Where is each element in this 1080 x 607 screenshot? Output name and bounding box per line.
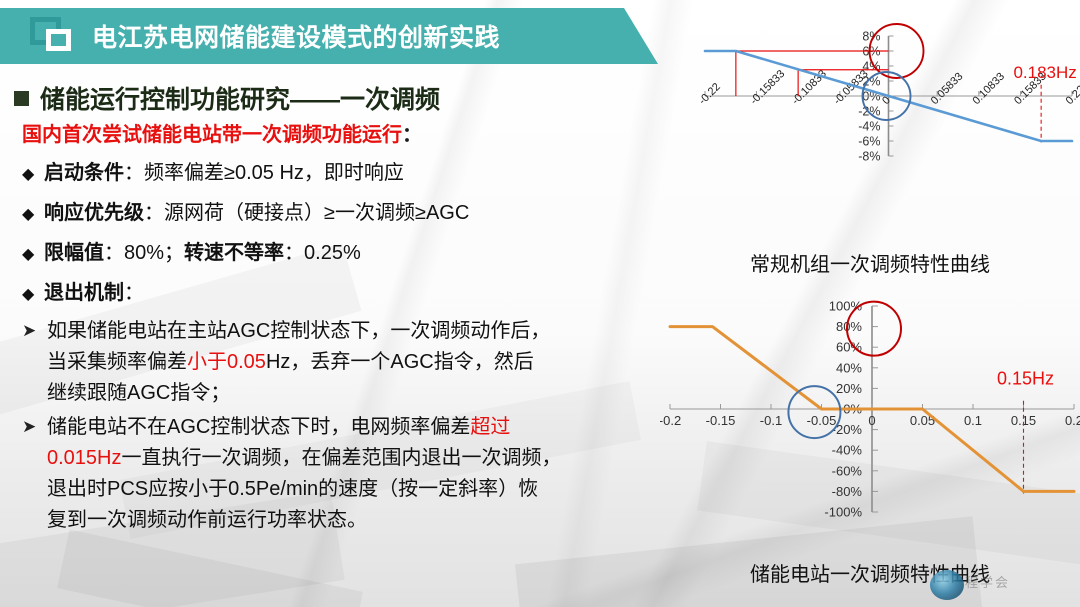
highlighted-text: 0.015Hz xyxy=(47,447,122,469)
x-axis-tick-label: 0.1 xyxy=(964,413,982,428)
arrow-bullet-icon: ➤ xyxy=(22,316,47,409)
plain-text: 复到一次调频动作前运行功率状态。 xyxy=(47,509,367,531)
slide-root: 电江苏电网储能建设模式的创新实践 储能运行控制功能研究——一次调频 国内首次尝试… xyxy=(0,0,1080,607)
y-axis-tick-label: 100% xyxy=(829,299,863,314)
diamond-bullet-icon: ◆ xyxy=(22,244,44,264)
y-axis-tick-label: -4% xyxy=(858,120,880,134)
y-axis-tick-label: 60% xyxy=(836,340,862,355)
chart-top-caption: 常规机组一次调频特性曲线 xyxy=(660,248,1080,277)
paragraph-line: 退出时PCS应按小于0.5Pe/min的速度（按一定斜率）恢 xyxy=(47,474,672,505)
section-title: 储能运行控制功能研究——一次调频 xyxy=(40,80,440,116)
lead-red-text: 国内首次尝试储能电站带一次调频功能运行 xyxy=(22,124,402,146)
diamond-bullet-icon: ◆ xyxy=(22,164,44,184)
chart-bottom-caption: 储能电站一次调频特性曲线 xyxy=(660,558,1080,587)
x-axis-tick-label: 0.2 xyxy=(1065,413,1080,428)
bullet-list: ◆启动条件：频率偏差≥0.05 Hz，即时响应◆响应优先级：源网荷（硬接点）≥一… xyxy=(22,156,672,305)
diamond-bullet-icon: ◆ xyxy=(22,204,44,224)
arrow-bullet-icon: ➤ xyxy=(22,412,47,536)
bullet-text: 退出机制： xyxy=(44,276,144,305)
paragraph-line: 当采集频率偏差小于0.05Hz，丢弃一个AGC指令，然后 xyxy=(47,347,672,378)
paragraph-line: 复到一次调频动作前运行功率状态。 xyxy=(47,505,672,536)
bullet-row: ◆限幅值：80%；转速不等率：0.25% xyxy=(22,236,672,265)
y-axis-tick-label: -60% xyxy=(832,463,863,478)
diamond-bullet-icon: ◆ xyxy=(22,284,44,304)
x-axis-tick-label: -0.15833 xyxy=(748,68,787,107)
paragraph-line: 0.015Hz一直执行一次调频，在偏差范围内退出一次调频， xyxy=(47,443,672,474)
lead-statement: 国内首次尝试储能电站带一次调频功能运行： xyxy=(22,118,672,147)
chart-storage-station: 100%80%60%40%20%0%-20%-40%-60%-80%-100%-… xyxy=(660,290,1080,560)
paragraph-line: 储能电站不在AGC控制状态下时，电网频率偏差超过 xyxy=(47,412,672,443)
plain-text: 如果储能电站在主站AGC控制状态下，一次调频动作后， xyxy=(47,320,550,342)
highlighted-text: 超过 xyxy=(470,416,510,438)
plain-text: 当采集频率偏差 xyxy=(47,351,187,373)
x-axis-tick-label: -0.2 xyxy=(660,413,681,428)
bullet-text: 响应优先级：源网荷（硬接点）≥一次调频≥AGC xyxy=(44,196,469,225)
paragraph-line: 如果储能电站在主站AGC控制状态下，一次调频动作后， xyxy=(47,316,672,347)
chart-conventional-unit: 8%6%4%2%0%-2%-4%-6%-8%-0.22-0.15833-0.10… xyxy=(660,8,1080,240)
nested-squares-logo-icon xyxy=(30,17,82,55)
x-axis-tick-label: 0.22 xyxy=(1064,83,1080,107)
chart-bottom-note: 0.15Hz xyxy=(997,368,1054,388)
paragraph-text: 如果储能电站在主站AGC控制状态下，一次调频动作后，当采集频率偏差小于0.05H… xyxy=(47,316,672,409)
x-axis-tick-label: 0.10833 xyxy=(970,71,1007,108)
y-axis-tick-label: -6% xyxy=(858,135,880,149)
y-axis-tick-label: -8% xyxy=(858,150,880,164)
x-axis-tick-label: 0.05833 xyxy=(929,71,966,108)
paragraph-list: ➤如果储能电站在主站AGC控制状态下，一次调频动作后，当采集频率偏差小于0.05… xyxy=(22,316,672,536)
y-axis-tick-label: 80% xyxy=(836,319,862,334)
plain-text: 退出时PCS应按小于0.5Pe/min的速度（按一定斜率）恢 xyxy=(47,478,538,500)
plain-text: Hz，丢弃一个AGC指令，然后 xyxy=(266,351,534,373)
paragraph-text: 储能电站不在AGC控制状态下时，电网频率偏差超过0.015Hz一直执行一次调频，… xyxy=(47,412,672,536)
plain-text: 一直执行一次调频，在偏差范围内退出一次调频， xyxy=(122,447,562,469)
bullet-text: 限幅值：80%；转速不等率：0.25% xyxy=(44,236,361,265)
paragraph-row: ➤如果储能电站在主站AGC控制状态下，一次调频动作后，当采集频率偏差小于0.05… xyxy=(22,316,672,409)
y-axis-tick-label: -80% xyxy=(832,484,863,499)
x-axis-tick-label: -0.05 xyxy=(807,413,837,428)
background-facet xyxy=(57,529,363,607)
bullet-row: ◆退出机制： xyxy=(22,276,672,305)
section-heading: 储能运行控制功能研究——一次调频 xyxy=(14,80,440,116)
logo-inner-square xyxy=(46,29,71,51)
bullet-row: ◆启动条件：频率偏差≥0.05 Hz，即时响应 xyxy=(22,156,672,185)
x-axis-tick-label: 0 xyxy=(868,413,875,428)
chart-storage-station-svg: 100%80%60%40%20%0%-20%-40%-60%-80%-100%-… xyxy=(660,290,1080,560)
paragraph-line: 继续跟随AGC指令； xyxy=(47,378,672,409)
y-axis-tick-label: 40% xyxy=(836,360,862,375)
y-axis-tick-label: -40% xyxy=(832,443,863,458)
x-axis-tick-label: -0.22 xyxy=(697,81,723,107)
watermark-label: 程学会 xyxy=(965,572,1010,591)
lead-tail-text: ： xyxy=(402,124,422,146)
header-banner: 电江苏电网储能建设模式的创新实践 xyxy=(0,8,658,64)
banner-title: 电江苏电网储能建设模式的创新实践 xyxy=(92,18,500,54)
x-axis-tick-label: -0.1 xyxy=(760,413,782,428)
highlighted-text: 小于0.05 xyxy=(187,351,266,373)
bullet-text: 启动条件：频率偏差≥0.05 Hz，即时响应 xyxy=(44,156,404,185)
plain-text: 继续跟随AGC指令； xyxy=(47,382,230,404)
y-axis-tick-label: 20% xyxy=(836,381,862,396)
watermark-logo-icon xyxy=(930,570,964,600)
plain-text: 储能电站不在AGC控制状态下时，电网频率偏差 xyxy=(47,416,470,438)
square-bullet-icon xyxy=(14,91,29,106)
paragraph-row: ➤储能电站不在AGC控制状态下时，电网频率偏差超过0.015Hz一直执行一次调频… xyxy=(22,412,672,536)
chart-conventional-unit-svg: 8%6%4%2%0%-2%-4%-6%-8%-0.22-0.15833-0.10… xyxy=(660,8,1080,240)
chart-top-note: 0.183Hz xyxy=(1013,63,1076,82)
x-axis-tick-label: -0.15 xyxy=(706,413,736,428)
y-axis-tick-label: -100% xyxy=(824,505,862,520)
bullet-row: ◆响应优先级：源网荷（硬接点）≥一次调频≥AGC xyxy=(22,196,672,225)
body-content: 国内首次尝试储能电站带一次调频功能运行： ◆启动条件：频率偏差≥0.05 Hz，… xyxy=(22,118,672,539)
